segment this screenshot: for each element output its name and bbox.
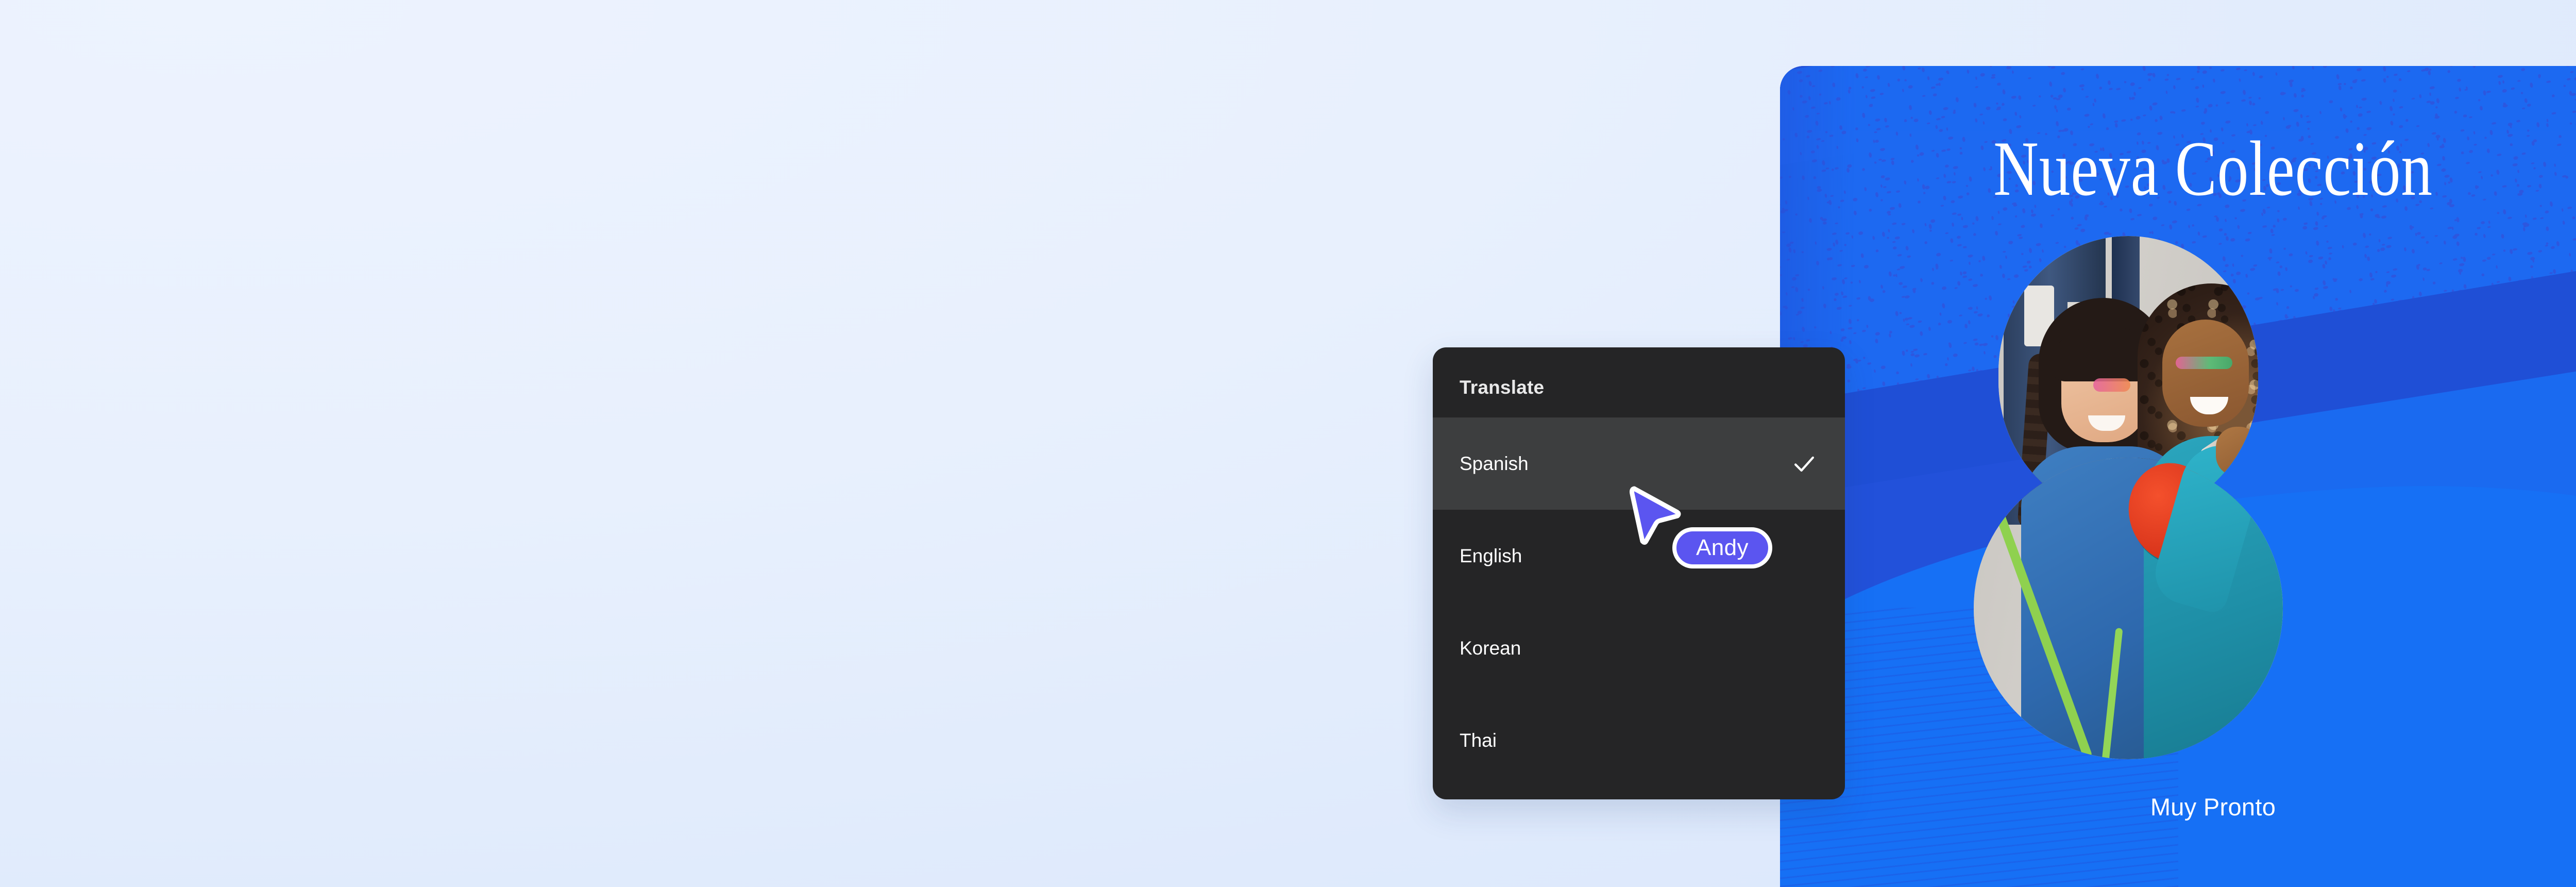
photo-image-lower	[1974, 458, 2283, 759]
check-icon	[1790, 450, 1818, 478]
cursor-name-badge: Andy	[1672, 527, 1772, 568]
canvas-stage: Nueva Colección	[0, 0, 2576, 887]
design-headline[interactable]: Nueva Colección	[1867, 129, 2560, 209]
language-menu-list: Spanish English Korean Thai	[1433, 417, 1845, 786]
translate-dropdown-panel[interactable]: Translate Spanish English Korean Thai	[1433, 347, 1845, 799]
design-canvas-card[interactable]: Nueva Colección	[1780, 66, 2576, 887]
menu-item-korean[interactable]: Korean	[1433, 602, 1845, 694]
menu-item-label: Thai	[1460, 730, 1818, 751]
photo-mask-bottom	[1974, 458, 2283, 759]
menu-item-label: Korean	[1460, 638, 1818, 659]
translate-panel-title: Translate	[1460, 377, 1544, 398]
menu-item-thai[interactable]: Thai	[1433, 694, 1845, 786]
cursor-name-label: Andy	[1696, 535, 1749, 561]
menu-item-label: Spanish	[1460, 453, 1790, 475]
design-tagline[interactable]: Muy Pronto	[1780, 793, 2576, 821]
design-photo-collage[interactable]	[1974, 236, 2283, 759]
